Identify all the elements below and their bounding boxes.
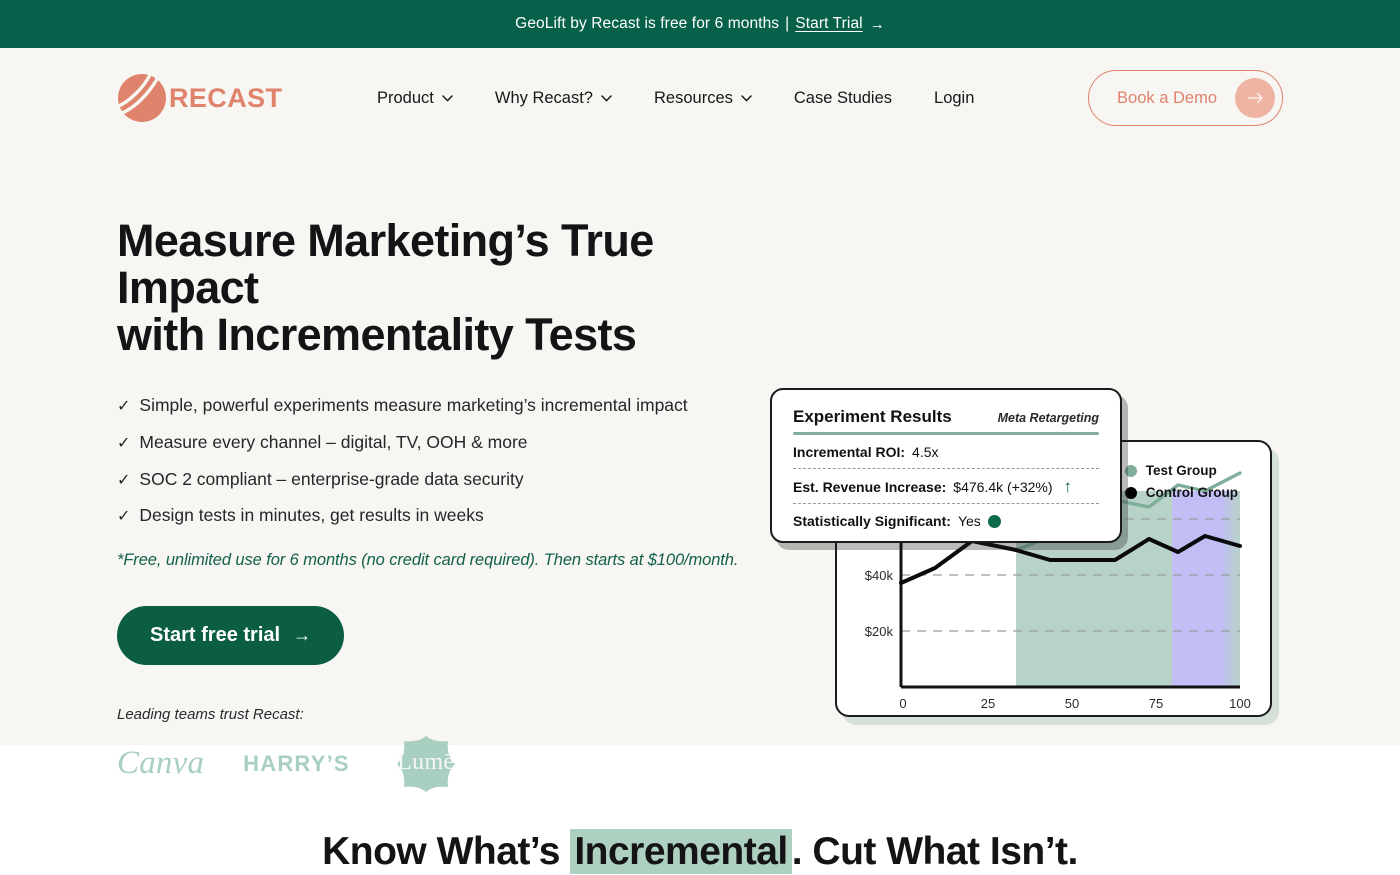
metric-label: Est. Revenue Increase:	[793, 479, 946, 495]
check-icon: ✓	[117, 396, 130, 418]
svg-text:$40k: $40k	[865, 568, 894, 583]
headline-line-1: Measure Marketing’s True Impact	[117, 215, 654, 313]
list-item: ✓ Measure every channel – digital, TV, O…	[117, 431, 777, 455]
announcement-text: GeoLift by Recast is free for 6 months	[515, 15, 779, 33]
announcement-separator: |	[785, 15, 789, 33]
hero-visual: Test Group Control Group	[770, 388, 1295, 728]
chevron-down-icon	[601, 95, 612, 102]
section-heading-part2: . Cut What Isn’t.	[792, 830, 1078, 873]
list-item: ✓ SOC 2 compliant – enterprise-grade dat…	[117, 468, 777, 492]
bullet-text: Measure every channel – digital, TV, OOH…	[139, 431, 527, 455]
metric-revenue-increase: Est. Revenue Increase: $476.4k (+32%) ↑	[793, 469, 1099, 503]
metric-value: 4.5x	[912, 444, 938, 460]
section-heading-highlight: Incremental	[570, 829, 791, 874]
metric-statistical-significance: Statistically Significant: Yes	[793, 504, 1099, 537]
svg-text:100: 100	[1229, 696, 1251, 711]
recast-logo-icon	[117, 73, 167, 123]
hero-copy-column: Measure Marketing’s True Impact with Inc…	[117, 148, 777, 793]
metric-label: Statistically Significant:	[793, 513, 951, 529]
section-heading: Know What’s Incremental. Cut What Isn’t.	[322, 830, 1078, 875]
bullet-text: Simple, powerful experiments measure mar…	[139, 394, 687, 418]
customer-logo-row: Canva HARRY’S Lumē	[117, 735, 777, 793]
announcement-bar: GeoLift by Recast is free for 6 months |…	[0, 0, 1400, 48]
legend-dot-icon	[1125, 465, 1137, 477]
legend-label: Test Group	[1146, 463, 1217, 478]
book-a-demo-label: Book a Demo	[1117, 89, 1217, 108]
projection-period-band	[1172, 491, 1240, 687]
pricing-fineprint: *Free, unlimited use for 6 months (no cr…	[117, 551, 777, 570]
cta-label: Start free trial	[150, 624, 280, 647]
site-header: RECAST Product Why Recast? Resources	[0, 48, 1400, 148]
bullet-text: SOC 2 compliant – enterprise-grade data …	[139, 468, 523, 492]
main-navigation: Product Why Recast? Resources Case Studi…	[377, 81, 974, 116]
harrys-logo: HARRY’S	[204, 751, 350, 777]
book-a-demo-button[interactable]: Book a Demo	[1088, 70, 1283, 126]
results-title: Experiment Results	[793, 407, 952, 427]
metric-incremental-roi: Incremental ROI: 4.5x	[793, 435, 1099, 468]
canva-logo-text: Canva	[117, 745, 204, 782]
lume-logo: Lumē	[388, 735, 464, 793]
nav-label: Why Recast?	[495, 89, 593, 108]
section-heading-part1: Know What’s	[322, 830, 570, 873]
metric-value: Yes	[958, 513, 981, 529]
list-item: ✓ Design tests in minutes, get results i…	[117, 504, 777, 528]
nav-label: Resources	[654, 89, 733, 108]
chart-legend: Test Group Control Group	[1125, 463, 1238, 500]
experiment-results-card: Experiment Results Meta Retargeting Incr…	[770, 388, 1122, 543]
check-icon: ✓	[117, 506, 130, 528]
arrow-right-circle-icon	[1235, 78, 1275, 118]
nav-label: Login	[934, 89, 974, 108]
arrow-right-icon: →	[293, 625, 311, 646]
start-free-trial-button[interactable]: Start free trial →	[117, 606, 344, 665]
arrow-up-icon: ↑	[1064, 478, 1073, 495]
feature-bullet-list: ✓ Simple, powerful experiments measure m…	[117, 394, 777, 528]
legend-label: Control Group	[1146, 485, 1238, 500]
status-badge-dot-icon	[988, 515, 1001, 528]
start-trial-link[interactable]: Start Trial	[795, 15, 862, 33]
recast-logo-text: RECAST	[169, 85, 282, 112]
nav-item-login[interactable]: Login	[934, 81, 974, 116]
results-channel-label: Meta Retargeting	[998, 411, 1099, 425]
hero-section: RECAST Product Why Recast? Resources	[0, 48, 1400, 745]
metric-value: $476.4k (+32%)	[953, 479, 1052, 495]
svg-text:$20k: $20k	[865, 624, 894, 639]
chevron-down-icon	[442, 95, 453, 102]
hero-content: Measure Marketing’s True Impact with Inc…	[0, 148, 1400, 793]
svg-text:0: 0	[899, 696, 906, 711]
svg-text:75: 75	[1149, 696, 1163, 711]
list-item: ✓ Simple, powerful experiments measure m…	[117, 394, 777, 418]
canva-logo: Canva	[117, 745, 204, 782]
metric-label: Incremental ROI:	[793, 444, 905, 460]
chevron-down-icon	[741, 95, 752, 102]
results-header: Experiment Results Meta Retargeting	[793, 407, 1099, 427]
svg-text:25: 25	[981, 696, 995, 711]
harrys-logo-text: HARRY’S	[243, 751, 350, 777]
check-icon: ✓	[117, 470, 130, 492]
legend-item-test-group: Test Group	[1125, 463, 1238, 478]
check-icon: ✓	[117, 433, 130, 455]
nav-label: Product	[377, 89, 434, 108]
bullet-text: Design tests in minutes, get results in …	[139, 504, 483, 528]
page-title: Measure Marketing’s True Impact with Inc…	[117, 218, 717, 358]
arrow-right-icon: →	[870, 16, 885, 33]
legend-item-control-group: Control Group	[1125, 485, 1238, 500]
recast-logo[interactable]: RECAST	[117, 73, 282, 123]
nav-label: Case Studies	[794, 89, 892, 108]
nav-item-resources[interactable]: Resources	[654, 81, 752, 116]
lume-logo-text: Lumē	[388, 735, 464, 793]
svg-text:50: 50	[1065, 696, 1079, 711]
nav-item-product[interactable]: Product	[377, 81, 453, 116]
headline-line-2: with Incrementality Tests	[117, 309, 636, 360]
legend-dot-icon	[1125, 487, 1137, 499]
social-proof-label: Leading teams trust Recast:	[117, 706, 777, 723]
nav-item-why-recast[interactable]: Why Recast?	[495, 81, 612, 116]
nav-item-case-studies[interactable]: Case Studies	[794, 81, 892, 116]
